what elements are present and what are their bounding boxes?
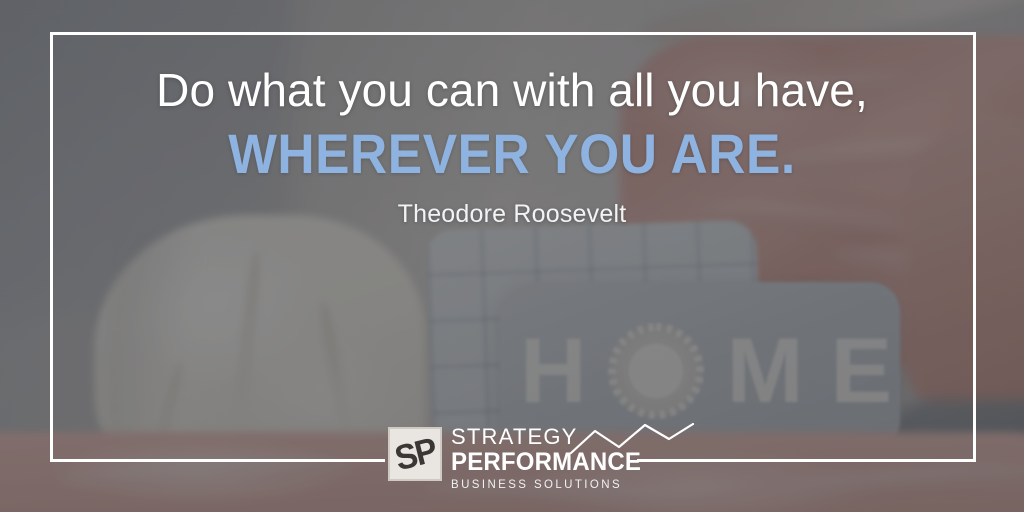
brand-name-strategy: STRATEGY (451, 426, 649, 448)
quote-author: Theodore Roosevelt (0, 200, 1024, 229)
frame-border-bottom-right (637, 459, 976, 462)
sp-monogram-text: SP (391, 432, 439, 476)
frame-border-bottom-left (50, 459, 385, 462)
quote-block: Do what you can with all you have, WHERE… (0, 66, 1024, 229)
brand-name-performance: PERFORMANCE (451, 449, 641, 475)
brand-tagline: BUSINESS SOLUTIONS (451, 480, 649, 492)
quote-line-2-emphasis: WHEREVER YOU ARE. (41, 126, 983, 182)
quote-line-1: Do what you can with all you have, (0, 66, 1024, 114)
brand-logo-text: STRATEGY PERFORMANCE BUSINESS SOLUTIONS (451, 425, 649, 492)
quote-graphic-canvas: H M E Do what you can with all you have,… (0, 0, 1024, 512)
sp-monogram-icon: SP (388, 427, 442, 481)
brand-logo: SP STRATEGY PERFORMANCE BUSINESS SOLUTIO… (388, 425, 640, 497)
frame-border-top (50, 32, 976, 35)
